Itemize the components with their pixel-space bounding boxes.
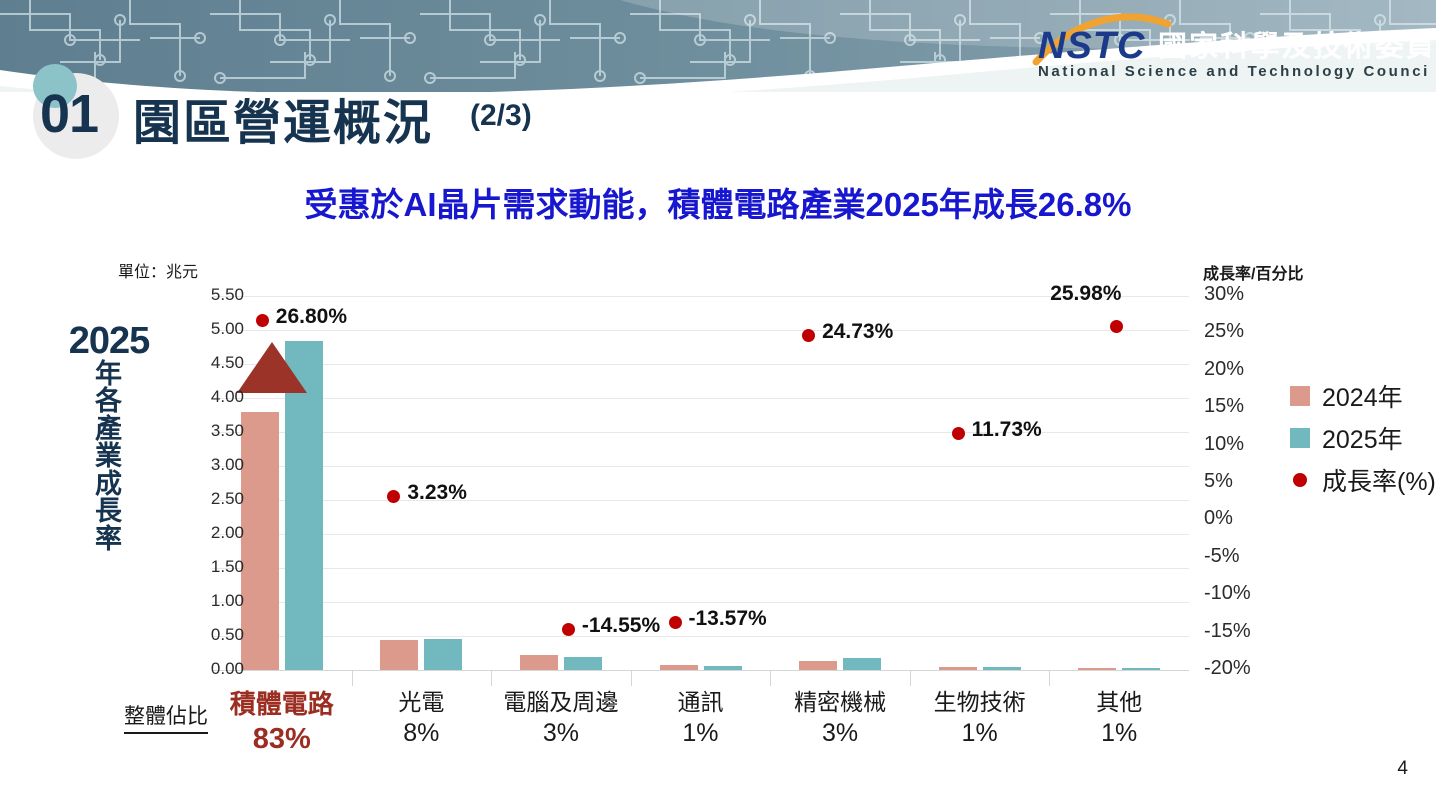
bar-2024: [380, 640, 418, 670]
x-axis-category-1: 積體電路83%: [212, 688, 352, 758]
growth-rate-label: 11.73%: [972, 418, 1042, 442]
vertical-label-char: 年: [66, 361, 152, 389]
category-share: 1%: [1049, 717, 1189, 750]
growth-triangle-marker: [237, 342, 307, 393]
right-axis-tick: 0%: [1204, 507, 1284, 530]
growth-rate-dot: [802, 329, 815, 342]
category-share: 83%: [212, 721, 352, 759]
category-share: 8%: [352, 717, 492, 750]
svg-text:NSTC: NSTC: [1038, 25, 1145, 67]
growth-rate-label: 24.73%: [822, 320, 893, 344]
growth-rate-label: -13.57%: [689, 607, 767, 631]
category-name: 通訊: [631, 688, 771, 717]
x-axis-tick: [770, 670, 771, 686]
header-banner: NSTC 國家科學及技術委員會 National Science and Tec…: [0, 0, 1436, 92]
page-title: 園區營運概況: [133, 83, 433, 153]
legend-item-1: 2024年: [1290, 382, 1436, 410]
growth-rate-dot: [387, 490, 400, 503]
x-axis-category-5: 精密機械3%: [770, 688, 910, 749]
x-axis-category-6: 生物技術1%: [910, 688, 1050, 749]
left-axis-tick: 4.00: [174, 387, 244, 407]
category-name: 光電: [352, 688, 492, 717]
growth-rate-dot: [952, 427, 965, 440]
growth-rate-dot: [562, 623, 575, 636]
left-axis-tick: 3.50: [174, 421, 244, 441]
growth-rate-label: 26.80%: [276, 305, 347, 329]
gridline: [212, 500, 1189, 501]
left-axis-tick: 3.00: [174, 455, 244, 475]
category-share: 1%: [631, 717, 771, 750]
gridline: [212, 432, 1189, 433]
category-name: 積體電路: [212, 688, 352, 721]
left-axis-tick: 5.50: [174, 285, 244, 305]
bar-2025: [843, 658, 881, 670]
vertical-label-char: 長: [66, 498, 152, 526]
section-number: 01: [40, 83, 98, 145]
growth-rate-dot: [1110, 320, 1123, 333]
x-axis-tick: [1049, 670, 1050, 686]
growth-rate-dot: [669, 616, 682, 629]
bar-2024: [799, 661, 837, 670]
growth-rate-dot: [256, 314, 269, 327]
bar-2024: [660, 665, 698, 670]
left-axis-tick: 0.50: [174, 625, 244, 645]
category-name: 生物技術: [910, 688, 1050, 717]
bar-2024: [939, 667, 977, 670]
right-axis-title: 成長率/百分比: [1203, 260, 1303, 284]
logo-zh-text: 國家科學及技術委員會: [1158, 29, 1430, 63]
nstc-logo: NSTC 國家科學及技術委員會 National Science and Tec…: [1030, 8, 1430, 80]
vertical-label-year: 2025: [66, 322, 152, 361]
chart-plot-area: 26.80%3.23%-14.55%-13.57%24.73%11.73%25.…: [212, 296, 1189, 670]
legend-swatch-icon: [1290, 428, 1310, 448]
vertical-label-char: 各: [66, 388, 152, 416]
category-share: 3%: [770, 717, 910, 750]
right-axis-tick: -5%: [1204, 545, 1284, 568]
legend-label: 成長率(%): [1322, 462, 1436, 498]
vertical-label-char: 成: [66, 471, 152, 499]
left-axis-tick: 2.50: [174, 489, 244, 509]
legend-label: 2024年: [1322, 378, 1403, 414]
bar-2025: [983, 667, 1021, 670]
category-name: 其他: [1049, 688, 1189, 717]
share-row-label: 整體佔比: [124, 700, 208, 734]
x-axis-category-4: 通訊1%: [631, 688, 771, 749]
right-axis-tick: -20%: [1204, 657, 1284, 680]
logo-en-text: National Science and Technology Council: [1038, 63, 1430, 80]
left-axis-tick: 0.00: [174, 659, 244, 679]
gridline: [212, 602, 1189, 603]
page-number: 4: [1397, 758, 1408, 780]
x-axis-category-7: 其他1%: [1049, 688, 1189, 749]
x-axis-category-3: 電腦及周邊3%: [491, 688, 631, 749]
category-name: 電腦及周邊: [491, 688, 631, 717]
bar-2024: [241, 412, 279, 670]
legend-item-2: 2025年: [1290, 424, 1436, 452]
left-axis-tick: 5.00: [174, 319, 244, 339]
right-axis-tick: -10%: [1204, 582, 1284, 605]
gridline: [212, 296, 1189, 297]
left-axis-tick: 1.00: [174, 591, 244, 611]
left-axis-tick: 4.50: [174, 353, 244, 373]
right-axis-tick: 5%: [1204, 470, 1284, 493]
gridline: [212, 466, 1189, 467]
category-name: 精密機械: [770, 688, 910, 717]
chart-legend: 2024年2025年成長率(%): [1290, 382, 1436, 508]
gridline: [212, 398, 1189, 399]
legend-dot-icon: [1293, 473, 1307, 487]
x-axis-tick: [352, 670, 353, 686]
bar-2025: [1122, 668, 1160, 670]
gridline: [212, 364, 1189, 365]
left-axis-tick: 2.00: [174, 523, 244, 543]
bar-2024: [1078, 668, 1116, 670]
bar-2025: [704, 666, 742, 670]
gridline: [212, 534, 1189, 535]
gridline: [212, 636, 1189, 637]
right-axis-tick: 15%: [1204, 395, 1284, 418]
legend-label: 2025年: [1322, 420, 1403, 456]
vertical-label-char: 率: [66, 526, 152, 554]
x-axis-tick: [631, 670, 632, 686]
category-share: 3%: [491, 717, 631, 750]
right-axis-tick: 20%: [1204, 358, 1284, 381]
left-axis-unit-label: 單位：兆元: [118, 258, 198, 282]
growth-rate-label: 3.23%: [407, 481, 467, 505]
right-axis-tick: 25%: [1204, 320, 1284, 343]
vertical-label-char: 業: [66, 443, 152, 471]
growth-rate-label: -14.55%: [582, 614, 660, 638]
page-subtitle: (2/3): [470, 99, 532, 133]
left-axis-tick: 1.50: [174, 557, 244, 577]
x-axis-line: [212, 670, 1189, 671]
right-axis-tick: 30%: [1204, 283, 1284, 306]
category-share: 1%: [910, 717, 1050, 750]
x-axis-tick: [491, 670, 492, 686]
vertical-axis-label: 2025 年 各 產 業 成 長 率: [66, 322, 152, 553]
growth-rate-label: 25.98%: [1050, 282, 1121, 306]
gridline: [212, 330, 1189, 331]
gridline: [212, 568, 1189, 569]
chart-headline: 受惠於AI晶片需求動能，積體電路產業2025年成長26.8%: [0, 178, 1436, 226]
x-axis-tick: [910, 670, 911, 686]
x-axis-category-2: 光電8%: [352, 688, 492, 749]
right-axis-tick: 10%: [1204, 433, 1284, 456]
legend-item-3: 成長率(%): [1290, 466, 1436, 494]
legend-swatch-icon: [1290, 386, 1310, 406]
bar-2025: [564, 657, 602, 670]
right-axis-tick: -15%: [1204, 620, 1284, 643]
bar-2024: [520, 655, 558, 670]
vertical-label-char: 產: [66, 416, 152, 444]
bar-2025: [424, 639, 462, 670]
